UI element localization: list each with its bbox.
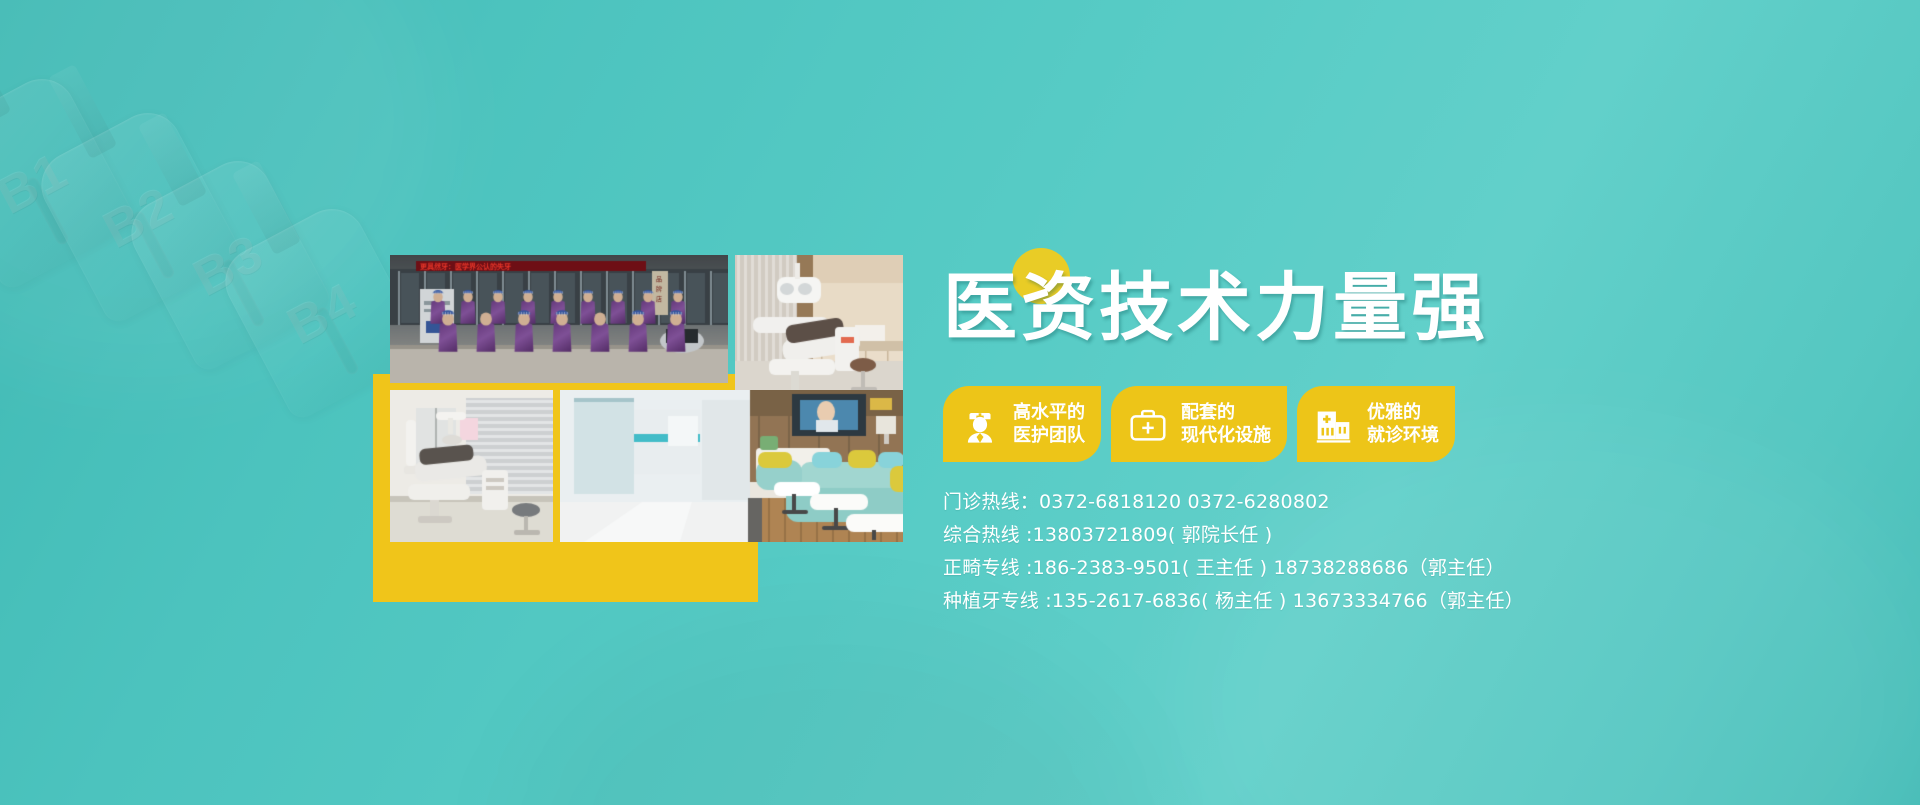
dental-chair-room-1 — [735, 255, 903, 395]
shade-tab-label: B4 — [277, 270, 367, 356]
contact-info-list: 门诊热线：0372-6818120 0372-6280802 综合热线 :138… — [943, 486, 1563, 618]
clinic-promo-banner: B1 B2 B3 B4 — [0, 0, 1920, 805]
feature-badge-facilities[interactable]: 配套的 现代化设施 — [1111, 386, 1287, 462]
badge-line-1: 优雅的 — [1367, 402, 1421, 423]
shade-tab-b2: B2 — [29, 101, 244, 327]
waiting-lounge-photo — [560, 390, 903, 542]
badge-line-1: 高水平的 — [1013, 402, 1085, 423]
badge-line-2: 就诊环境 — [1367, 425, 1439, 446]
photo-collage — [373, 242, 903, 602]
hospital-icon — [1311, 401, 1357, 447]
feature-badge-team[interactable]: 高水平的 医护团队 — [943, 386, 1101, 462]
shade-tab-label: B3 — [183, 222, 273, 308]
badge-line-2: 现代化设施 — [1181, 425, 1271, 446]
shade-tab-b1: B1 — [0, 67, 139, 293]
dental-chair-room-2 — [390, 390, 553, 542]
nurse-icon — [957, 401, 1003, 447]
feature-badge-label: 配套的 现代化设施 — [1181, 401, 1271, 447]
contact-line-outpatient: 门诊热线：0372-6818120 0372-6280802 — [943, 486, 1563, 519]
medkit-icon — [1125, 401, 1171, 447]
page-title: 医资技术力量强 — [943, 248, 1563, 350]
feature-badge-label: 优雅的 就诊环境 — [1367, 401, 1439, 447]
feature-badge-environment[interactable]: 优雅的 就诊环境 — [1297, 386, 1455, 462]
contact-line-general: 综合热线 :13803721809( 郭院长任 ) — [943, 519, 1563, 552]
feature-badge-label: 高水平的 医护团队 — [1013, 401, 1085, 447]
shade-tab-label: B1 — [0, 140, 78, 226]
banner-content-column: 医资技术力量强 高水平的 医护团队 — [943, 248, 1563, 618]
badge-line-2: 医护团队 — [1013, 425, 1085, 446]
shade-tab-b3: B3 — [119, 149, 334, 375]
feature-badge-list: 高水平的 医护团队 配套的 现代化设施 — [943, 386, 1563, 462]
contact-line-orthodontics: 正畸专线 :186-2383-9501( 王主任 ) 18738288686（郭… — [943, 552, 1563, 585]
headline-block: 医资技术力量强 — [943, 248, 1563, 360]
contact-line-implants: 种植牙专线 :135-2617-6836( 杨主任 ) 13673334766（… — [943, 585, 1563, 618]
shade-tab-label: B2 — [93, 174, 183, 260]
clinic-team-photo — [390, 255, 728, 383]
badge-line-1: 配套的 — [1181, 402, 1235, 423]
